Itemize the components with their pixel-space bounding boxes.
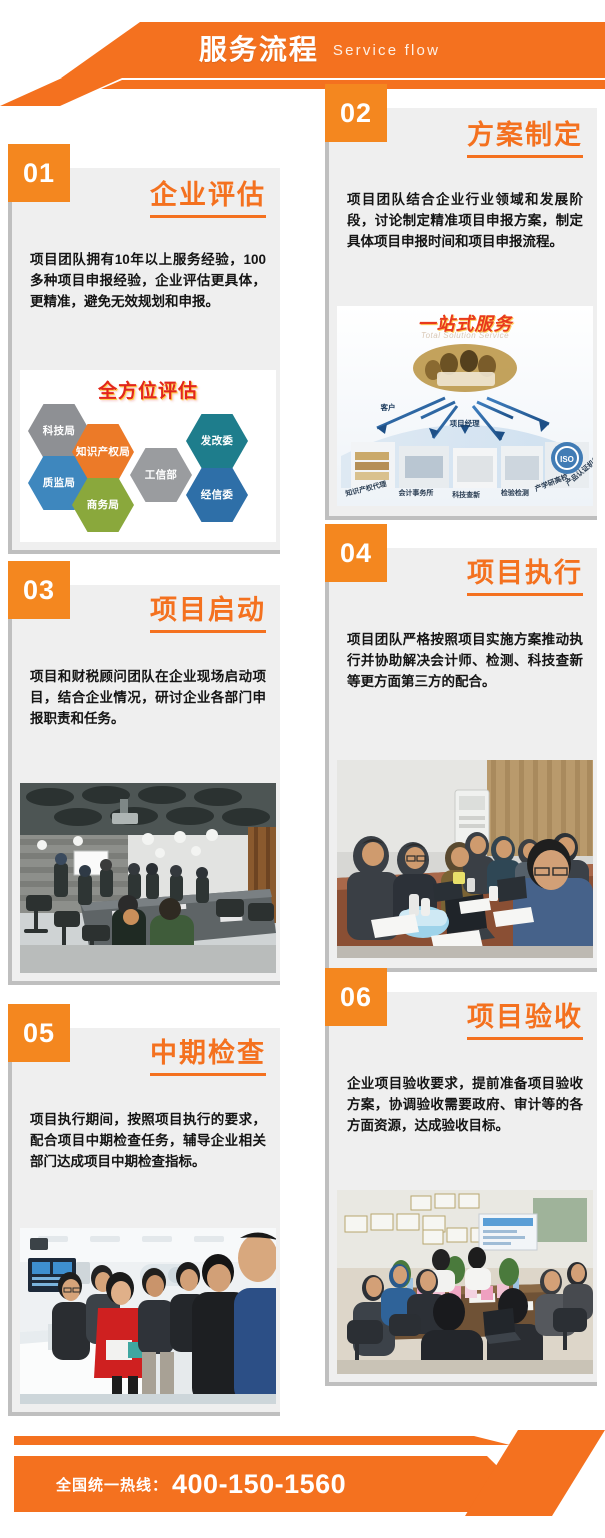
step-title-underline (467, 1037, 583, 1040)
step-title-group: 企业评估 (150, 180, 266, 218)
team-working-illustration (337, 760, 593, 958)
hex-diagram-title: 全方位评估 (98, 376, 198, 403)
step-number-badge: 06 (325, 968, 387, 1026)
step-title: 企业评估 (150, 180, 266, 211)
step-description: 项目团队严格按照项目实施方案推动执行并协助解决会计师、检测、科技查新等更方面第三… (347, 630, 583, 693)
step-title: 中期检查 (150, 1038, 266, 1069)
step-description: 项目和财税顾问团队在企业现场启动项目，结合企业情况，研讨企业各部门申报职责和任务… (30, 667, 266, 730)
oss-label-tech-search: 科技查新 (452, 490, 480, 500)
step-description: 项目执行期间，按照项目执行的要求，配合项目中期检查任务，辅导企业相关部门达成项目… (30, 1110, 266, 1173)
step-title: 方案制定 (467, 120, 583, 151)
hex-jingxin-wei: 经信委 (186, 468, 248, 522)
oss-label-accounting: 会计事务所 (398, 488, 433, 498)
step-title-group: 项目验收 (467, 1002, 583, 1040)
oss-subtitle: Total Solution Service (421, 331, 509, 340)
step-title-group: 项目启动 (150, 595, 266, 633)
step-title-group: 中期检查 (150, 1038, 266, 1076)
hexagon-assessment-diagram: 全方位评估 科技局 知识产权局 发改委 质监局 工信部 商务局 经信委 (20, 370, 276, 542)
oss-label-inspection: 检验检测 (501, 488, 529, 498)
step-title: 项目执行 (467, 558, 583, 589)
showroom-visit-illustration (20, 1228, 276, 1404)
oss-node-customer: 客户 (381, 402, 396, 413)
header-title-group: 服务流程 Service flow (0, 22, 605, 78)
step-card-03: 03 项目启动 项目和财税顾问团队在企业现场启动项目，结合企业情况，研讨企业各部… (8, 585, 280, 985)
step-number-badge: 03 (8, 561, 70, 619)
step-title-underline (150, 1073, 266, 1076)
photo-showroom-visit (20, 1228, 276, 1404)
step-description: 企业项目验收要求，提前准备项目验收方案，协调验收需要政府、审计等的各方面资源，达… (347, 1074, 583, 1137)
photo-meeting-laptops (337, 760, 593, 958)
step-card-01: 01 企业评估 项目团队拥有10年以上服务经验，100多种项目申报经验，企业评估… (8, 168, 280, 554)
page-subtitle: Service flow (333, 43, 440, 58)
step-number-badge: 05 (8, 1004, 70, 1062)
hotline-number[interactable]: 400-150-1560 (172, 1469, 346, 1500)
hex-fagai-wei: 发改委 (186, 414, 248, 468)
step-title: 项目验收 (467, 1002, 583, 1033)
step-title-underline (467, 155, 583, 158)
page-footer: 全国统一热线： 400-150-1560 (0, 1408, 605, 1538)
photo-boardroom-presentation (337, 1190, 593, 1374)
photo-conference-room (20, 783, 276, 973)
hex-gongxin-bu: 工信部 (130, 448, 192, 502)
page-header: 服务流程 Service flow (0, 0, 605, 106)
step-title-underline (150, 215, 266, 218)
conference-room-illustration (20, 783, 276, 973)
step-title: 项目启动 (150, 595, 266, 626)
step-number-badge: 01 (8, 144, 70, 202)
step-card-02: 02 方案制定 项目团队结合企业行业领域和发展阶段，讨论制定精准项目申报方案，制… (325, 108, 597, 520)
step-description: 项目团队结合企业行业领域和发展阶段，讨论制定精准项目申报方案，制定具体项目申报时… (347, 190, 583, 253)
step-card-04: 04 项目执行 项目团队严格按照项目实施方案推动执行并协助解决会计师、检测、科技… (325, 548, 597, 972)
one-stop-service-diagram: ISO 一站式服务 Total Solution Service 客户 项目经理… (337, 306, 593, 506)
step-title-underline (150, 630, 266, 633)
boardroom-presentation-illustration (337, 1190, 593, 1374)
step-number-badge: 04 (325, 524, 387, 582)
hotline-label: 全国统一热线： (56, 1474, 168, 1495)
step-card-05: 05 中期检查 项目执行期间，按照项目执行的要求，配合项目中期检查任务，辅导企业… (8, 1028, 280, 1416)
step-title-underline (467, 593, 583, 596)
svg-text:ISO: ISO (560, 455, 574, 464)
step-number-badge: 02 (325, 84, 387, 142)
oss-node-project-manager: 项目经理 (450, 418, 480, 429)
step-description: 项目团队拥有10年以上服务经验，100多种项目申报经验，企业评估更具体，更精准，… (30, 250, 266, 313)
step-title-group: 项目执行 (467, 558, 583, 596)
step-card-06: 06 项目验收 企业项目验收要求，提前准备项目验收方案，协调验收需要政府、审计等… (325, 992, 597, 1386)
step-title-group: 方案制定 (467, 120, 583, 158)
hotline-group: 全国统一热线： 400-150-1560 (56, 1456, 346, 1512)
page-title: 服务流程 (199, 36, 319, 64)
